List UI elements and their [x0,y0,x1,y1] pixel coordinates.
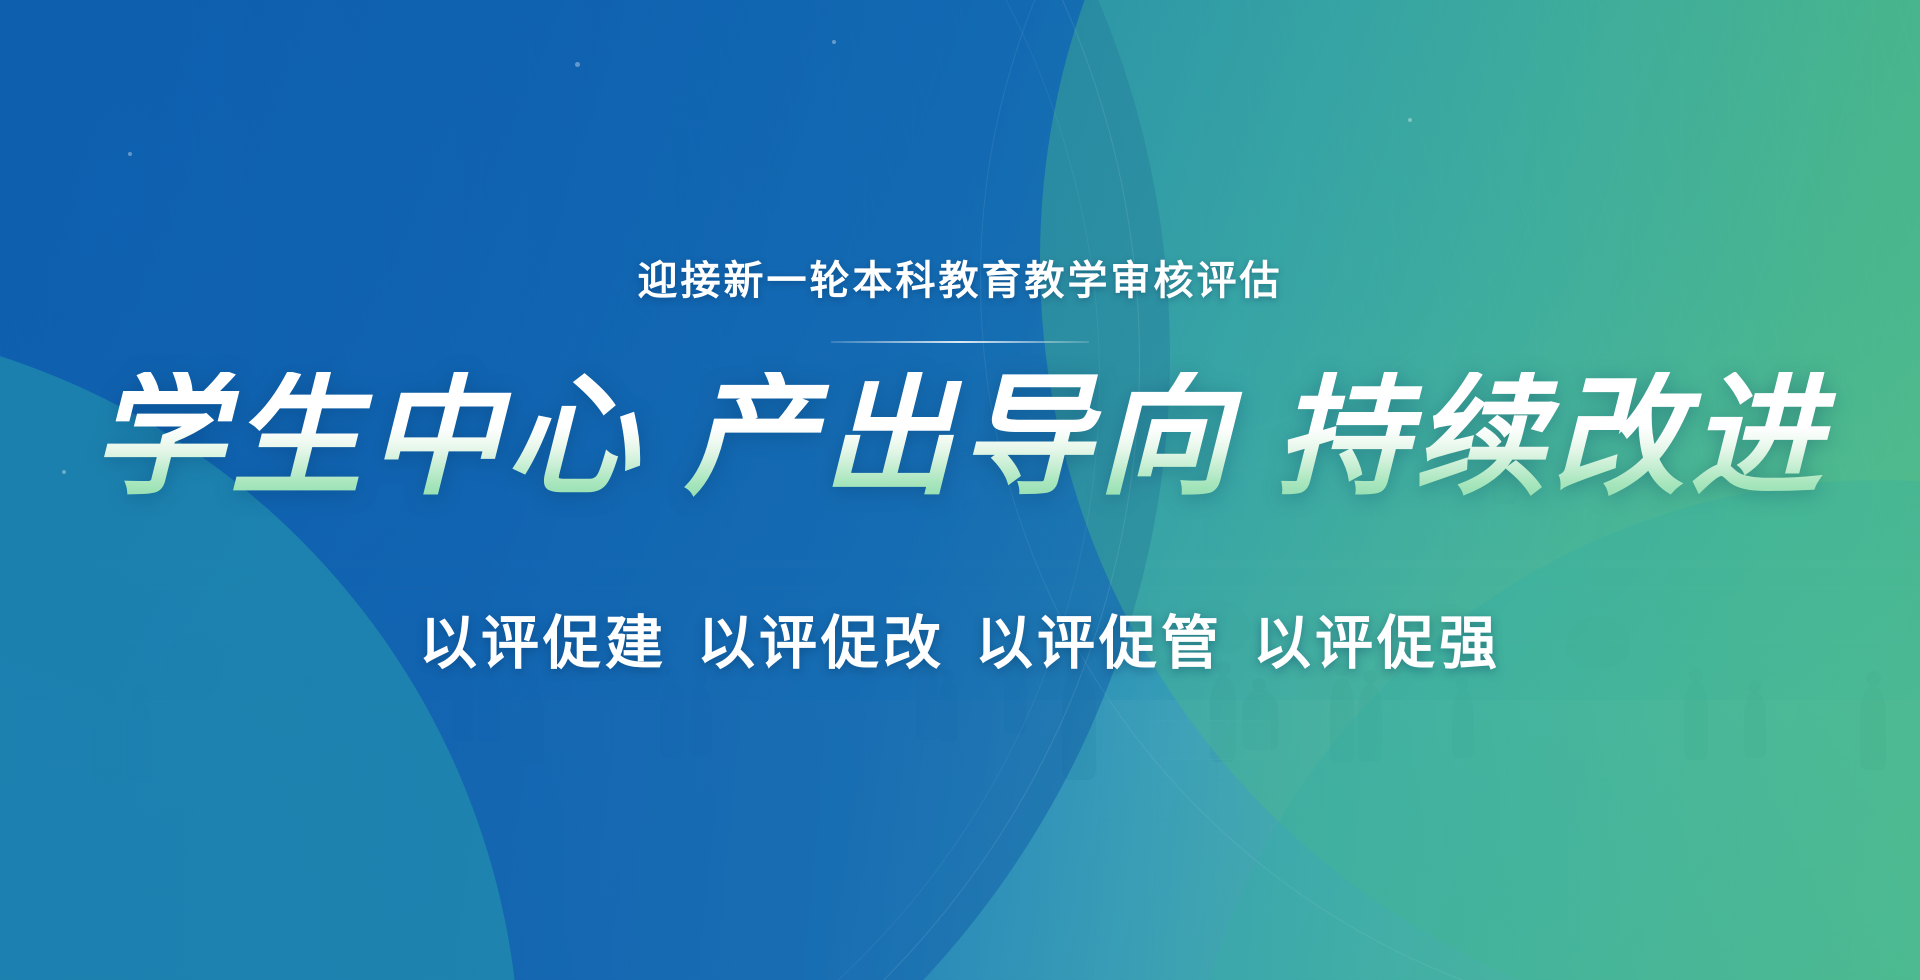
secondary-slogan: 以评促建以评促改以评促管以评促强 [0,596,1920,680]
banner-root: 迎接新一轮本科教育教学审核评估 学生中心产出导向持续改进 以评促建以评促改以评促… [0,0,1920,980]
calligraphy-slogan: 学生中心产出导向持续改进 [0,372,1920,504]
slogan-segment-4: 以评促强 [1253,596,1501,680]
slogan-segment-2: 以评促改 [697,596,945,680]
calligraphy-group-3: 持续改进 [1276,372,1828,504]
banner-content: 迎接新一轮本科教育教学审核评估 学生中心产出导向持续改进 以评促建以评促改以评促… [0,0,1920,980]
calligraphy-group-2: 产出导向 [684,372,1236,504]
page-title: 迎接新一轮本科教育教学审核评估 [0,248,1920,306]
title-divider [831,341,1089,343]
slogan-segment-1: 以评促建 [419,596,667,680]
calligraphy-group-1: 学生中心 [92,372,644,504]
slogan-segment-3: 以评促管 [975,596,1223,680]
